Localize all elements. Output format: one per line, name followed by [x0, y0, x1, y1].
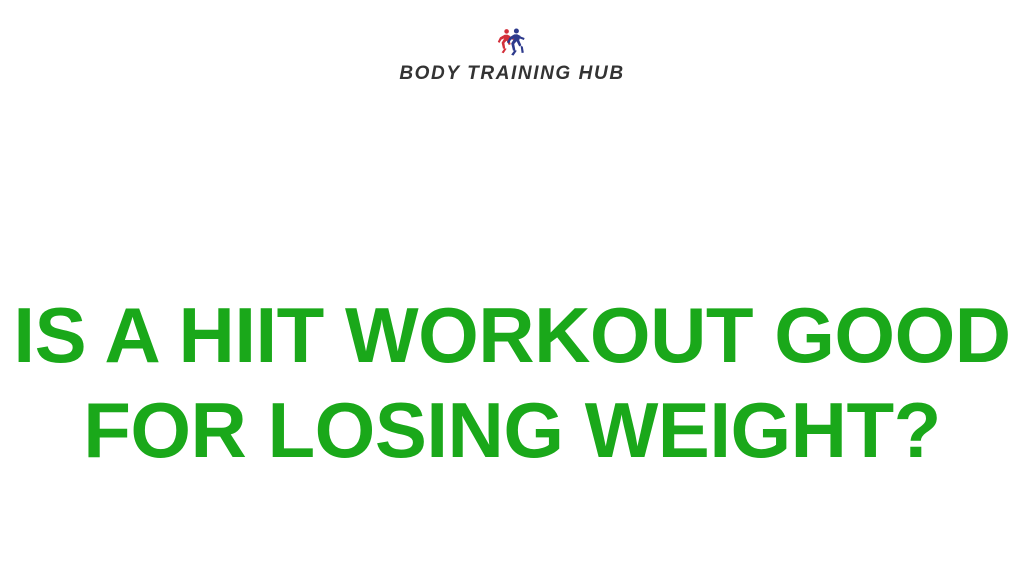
- brand-name: BODY TRAINING HUB: [399, 64, 624, 85]
- title-card: BODY TRAINING HUB IS A HIIT WORKOUT GOOD…: [0, 0, 1024, 576]
- page-title-line-2: FOR LOSING WEIGHT?: [0, 383, 1024, 478]
- running-figures-icon: [495, 26, 529, 60]
- page-title-line-1: IS A HIIT WORKOUT GOOD: [0, 288, 1024, 383]
- page-title: IS A HIIT WORKOUT GOOD FOR LOSING WEIGHT…: [0, 288, 1024, 478]
- brand-lockup: BODY TRAINING HUB: [0, 26, 1024, 85]
